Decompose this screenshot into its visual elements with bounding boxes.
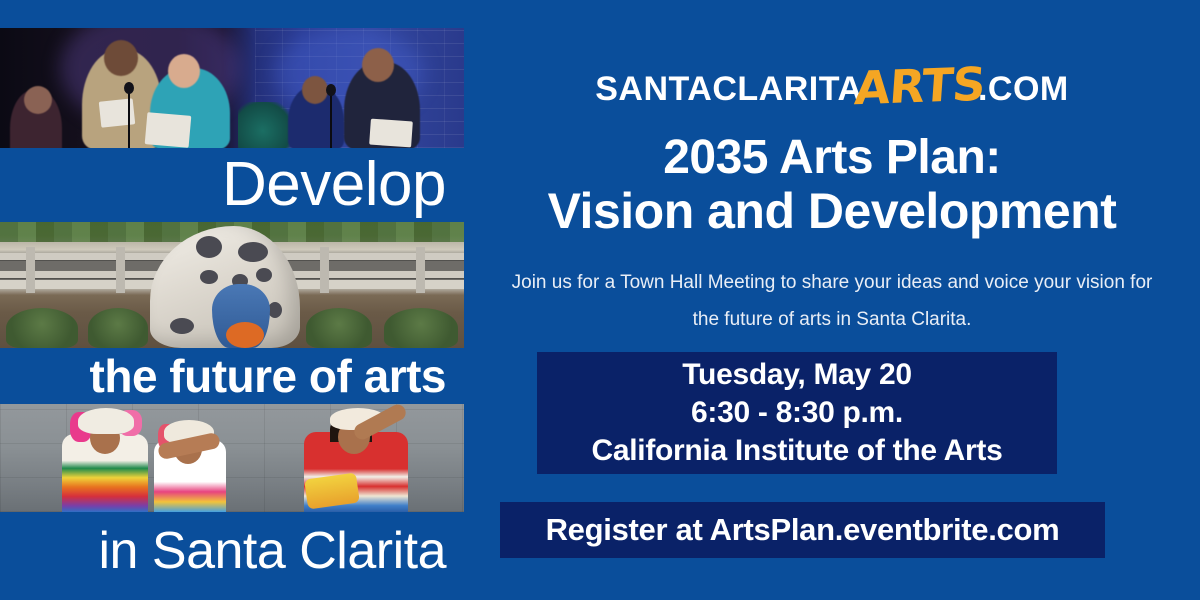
sculpture-opening bbox=[256, 268, 272, 282]
actor-head bbox=[104, 40, 138, 76]
dancer-figure bbox=[296, 408, 412, 512]
microphone-icon bbox=[330, 90, 332, 148]
logo-main-text: SANTACLARITA bbox=[595, 70, 862, 109]
tagline-line-3: in Santa Clarita bbox=[0, 512, 464, 590]
theatre-performance-photo bbox=[0, 28, 464, 148]
logo-arts-text: ARTS bbox=[852, 57, 986, 115]
folklorico-dancers-photo bbox=[0, 404, 464, 512]
actor-head bbox=[24, 86, 52, 114]
event-venue: California Institute of the Arts bbox=[592, 432, 1003, 470]
dancer-figure bbox=[56, 408, 152, 512]
tagline-line-1: Develop bbox=[0, 148, 464, 222]
shrub bbox=[6, 308, 78, 348]
event-date: Tuesday, May 20 bbox=[682, 356, 912, 394]
shrub bbox=[88, 308, 148, 348]
register-cta-label: Register at ArtsPlan.eventbrite.com bbox=[546, 512, 1060, 548]
right-content-column: SANTACLARITA ARTS .COM 2035 Arts Plan: V… bbox=[464, 0, 1200, 600]
sculpture-opening bbox=[238, 242, 268, 262]
actor-head bbox=[302, 76, 328, 104]
site-logo[interactable]: SANTACLARITA ARTS .COM bbox=[464, 62, 1200, 116]
headline-line-2: Vision and Development bbox=[464, 184, 1200, 238]
dancer-figure bbox=[148, 416, 232, 512]
event-details-panel: Tuesday, May 20 6:30 - 8:30 p.m. Califor… bbox=[537, 352, 1057, 474]
event-description: Join us for a Town Hall Meeting to share… bbox=[504, 264, 1160, 338]
script-page bbox=[145, 112, 192, 148]
actor-head bbox=[168, 54, 200, 88]
register-cta-button[interactable]: Register at ArtsPlan.eventbrite.com bbox=[500, 502, 1105, 558]
public-art-sculpture-photo bbox=[0, 222, 464, 348]
sculpture-opening bbox=[268, 302, 282, 318]
microphone-icon bbox=[128, 88, 130, 148]
logo-domain-suffix: .COM bbox=[978, 70, 1069, 109]
shrub bbox=[306, 308, 372, 348]
shrub bbox=[384, 308, 458, 348]
sculpture-opening bbox=[170, 318, 194, 334]
sculpture-orange-accent bbox=[226, 322, 264, 348]
left-photo-column: Develop the future of arts in Santa Clar… bbox=[0, 0, 464, 600]
tagline-line-2: the future of arts bbox=[0, 348, 464, 404]
sculpture-opening bbox=[200, 270, 218, 284]
page-title: 2035 Arts Plan: Vision and Development bbox=[464, 132, 1200, 238]
actor-head bbox=[362, 48, 394, 82]
script-page bbox=[369, 119, 413, 148]
event-time: 6:30 - 8:30 p.m. bbox=[691, 394, 903, 432]
headline-line-1: 2035 Arts Plan: bbox=[464, 132, 1200, 184]
sculpture-opening bbox=[196, 236, 222, 258]
